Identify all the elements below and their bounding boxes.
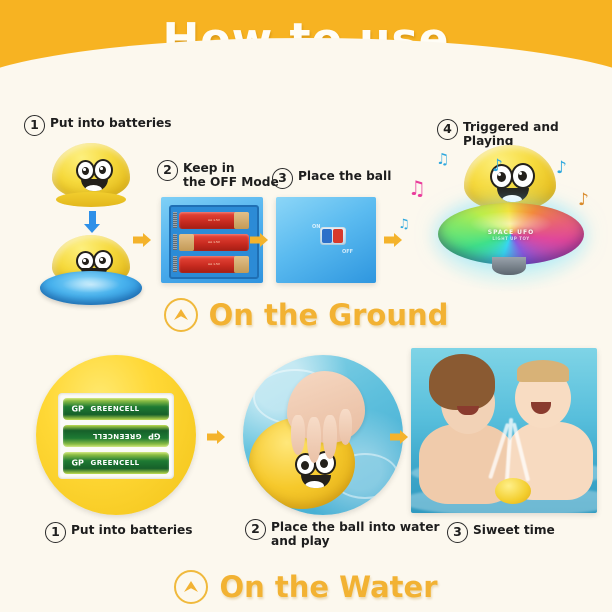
mother-hair: [429, 354, 495, 410]
assembly-down-arrow: [82, 211, 102, 233]
eye-right: [511, 163, 535, 189]
ground-step-3: 3 Place the ball: [272, 168, 391, 189]
water-step-1: 1 Put into batteries: [45, 522, 193, 543]
base-logo-subtext: LIGHT UP TOY: [438, 236, 584, 241]
tongue: [85, 185, 102, 191]
battery-compartment: AA 1.5V AA 1.5V AA 1.5V: [169, 205, 259, 279]
power-switch-photo: ON OFF: [276, 197, 376, 283]
music-note-icon: ♫: [398, 218, 410, 231]
battery-cell: AA 1.5V: [179, 256, 249, 273]
battery-brand: GP: [71, 459, 83, 468]
base-logo-text: SPACE UFO: [488, 229, 534, 236]
pupil-left: [301, 461, 309, 470]
finger: [339, 409, 352, 445]
ball-in-water-photo: [243, 355, 403, 515]
eye-glint-left: [83, 259, 86, 262]
finger: [323, 415, 337, 459]
step-label: Siweet time: [473, 522, 555, 538]
pupil-right: [320, 459, 328, 468]
switch-off-label: OFF: [342, 249, 353, 255]
toy-dome-upper: [52, 143, 130, 199]
battery-cell: GP GREENCELL: [63, 452, 169, 474]
base-highlight: [58, 277, 124, 294]
step-label: Keep in the OFF Mode: [183, 160, 279, 190]
switch-housing: [320, 227, 346, 245]
step-number-badge: 1: [24, 115, 45, 136]
water-step-2: 2 Place the ball into water and play: [245, 519, 440, 549]
battery-model: GREENCELL: [91, 459, 140, 467]
eye-glint-left: [83, 168, 86, 171]
tongue: [502, 195, 522, 202]
switch-knob-blue: [322, 229, 332, 243]
music-note-icon: ♫: [408, 178, 426, 198]
battery-text: AA 1.5V: [197, 241, 231, 245]
toy-base-rainbow: SPACE UFO LIGHT UP TOY: [438, 203, 584, 265]
toy-nozzle: [492, 257, 526, 275]
chevron-up-circle-icon: [174, 570, 208, 604]
eye-glint-right: [519, 172, 522, 175]
music-note-icon: ♪: [556, 160, 567, 177]
battery-tray-photo: AA 1.5V AA 1.5V AA 1.5V: [161, 197, 263, 283]
finger: [307, 417, 321, 463]
eye-glint-right: [100, 167, 103, 170]
battery-cell: GP GREENCELL: [63, 425, 169, 447]
section-title: On the Ground: [209, 298, 449, 332]
step-label: Put into batteries: [71, 522, 193, 538]
baby-hair: [517, 360, 569, 382]
header-banner: How to use: [0, 0, 612, 96]
tongue: [305, 481, 324, 488]
switch-knob-red: [333, 229, 343, 243]
battery-compartment: GP GREENCELL GP GREENCELL GP GREENCELL: [58, 393, 174, 479]
ground-step-2: 2 Keep in the OFF Mode: [157, 160, 279, 190]
finger: [291, 415, 305, 455]
section-banner-ground: On the Ground: [0, 293, 612, 337]
toy-in-pool: [495, 478, 531, 504]
infographic-page: How to use 1 Put into batteries: [0, 0, 612, 612]
battery-spring: [173, 212, 177, 228]
ground-step-1: 1 Put into batteries: [24, 115, 172, 136]
step-number-badge: 2: [245, 519, 266, 540]
eye-right: [93, 159, 113, 181]
music-note-icon: ♪: [578, 192, 589, 209]
battery-cell: AA 1.5V: [179, 212, 249, 229]
battery-cap: [179, 234, 194, 251]
section-title: On the Water: [219, 570, 437, 604]
step-number-badge: 4: [437, 119, 458, 140]
battery-text: AA 1.5V: [197, 263, 231, 267]
chevron-up-circle-icon: [164, 298, 198, 332]
battery-cell: AA 1.5V: [179, 234, 249, 251]
step-number-badge: 3: [272, 168, 293, 189]
section-banner-water: On the Water: [0, 566, 612, 608]
step-label: Place the ball into water and play: [271, 519, 440, 549]
toy-face-lit: [464, 145, 556, 211]
battery-spring: [173, 256, 177, 272]
battery-model: GREENCELL: [91, 405, 140, 413]
water-step-3: 3 Siweet time: [447, 522, 555, 543]
exploded-toy-illustration: [38, 143, 148, 298]
eye-glint-right: [100, 258, 103, 261]
step-number-badge: 2: [157, 160, 178, 181]
battery-text: AA 1.5V: [197, 219, 231, 223]
music-note-icon: ♫: [436, 152, 449, 167]
toy-dome-lit: [464, 145, 556, 211]
battery-install-photo: GP GREENCELL GP GREENCELL GP GREENCELL: [36, 355, 196, 515]
toy-dome-lip-upper: [56, 192, 126, 207]
battery-brand: GP: [148, 432, 160, 441]
toy-face-upper: [52, 143, 130, 199]
battery-cap: [234, 212, 249, 229]
battery-cell: GP GREENCELL: [63, 398, 169, 420]
step-label: Place the ball: [298, 168, 391, 184]
step-number-badge: 3: [447, 522, 468, 543]
step-label: Put into batteries: [50, 115, 172, 131]
mother-baby-pool-photo: [411, 348, 597, 513]
battery-cap: [234, 256, 249, 273]
step-number-badge: 1: [45, 522, 66, 543]
music-note-icon: ♪: [492, 158, 503, 175]
battery-model: GREENCELL: [92, 432, 141, 440]
battery-brand: GP: [71, 405, 83, 414]
product-base-logo: SPACE UFO LIGHT UP TOY: [438, 229, 584, 241]
mouth: [497, 188, 529, 202]
mouth: [81, 179, 108, 191]
battery-spring: [173, 234, 177, 250]
mouth: [301, 475, 331, 488]
